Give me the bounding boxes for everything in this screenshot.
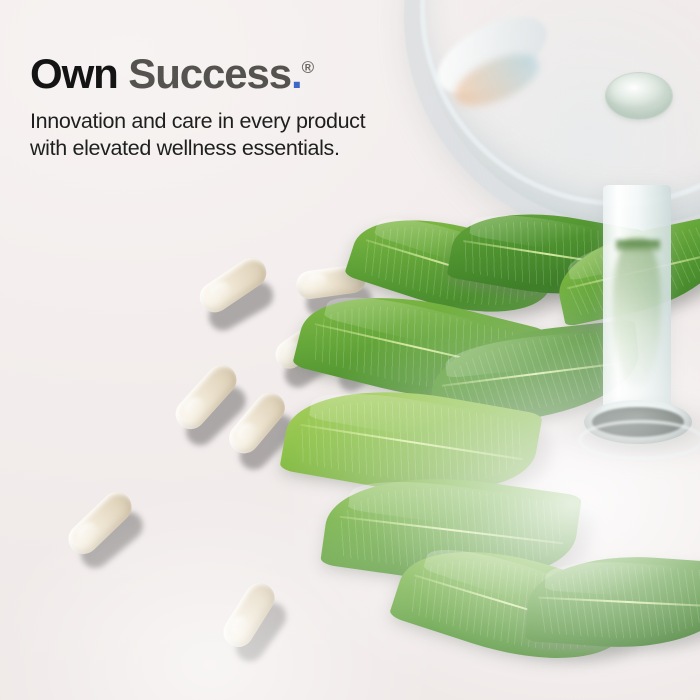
headline-block: Own Success.® Innovation and care in eve… xyxy=(30,52,365,162)
product-banner: Own Success.® Innovation and care in eve… xyxy=(0,0,700,700)
subheadline-line-2: with elevated wellness essentials. xyxy=(30,135,365,162)
headline-word-secondary: Success xyxy=(128,50,291,97)
headline-period: . xyxy=(291,50,302,97)
page-title: Own Success.® xyxy=(30,52,365,96)
subheadline-line-1: Innovation and care in every product xyxy=(30,108,365,135)
headline-word-primary: Own xyxy=(30,50,118,97)
subheadline: Innovation and care in every product wit… xyxy=(30,108,365,162)
registered-trademark-icon: ® xyxy=(302,58,315,77)
